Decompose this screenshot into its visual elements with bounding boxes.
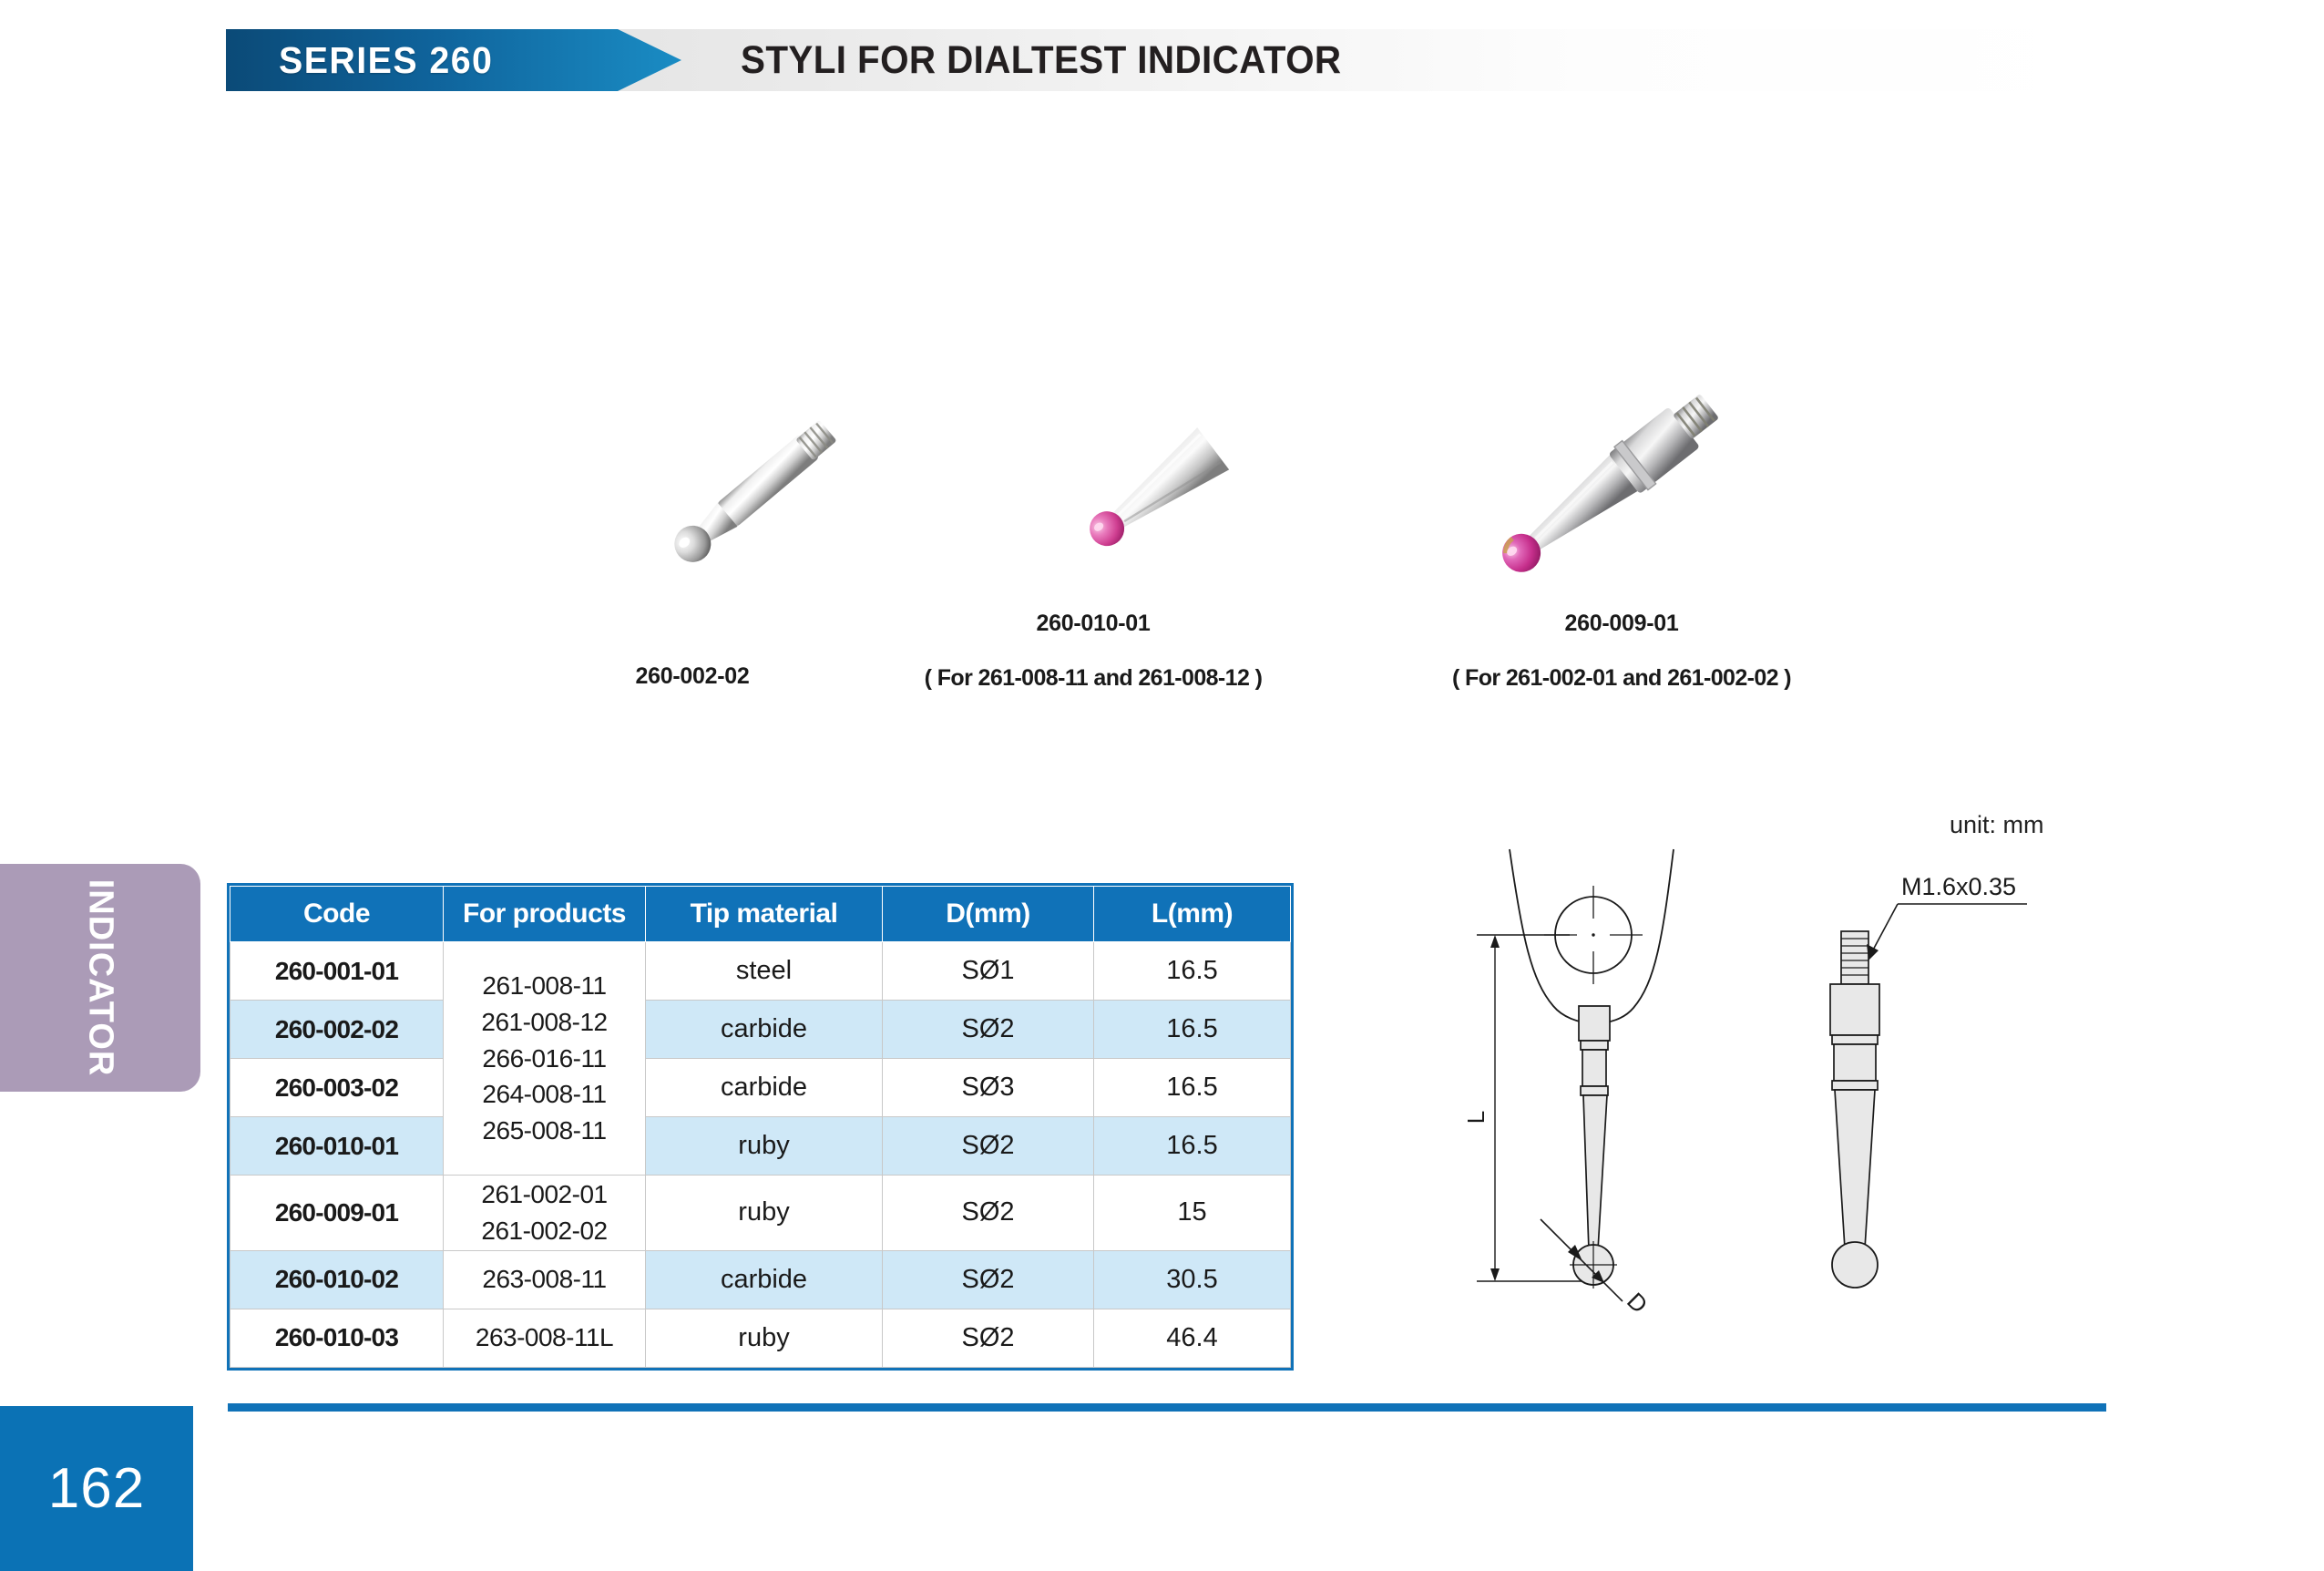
- footer-rule: [228, 1403, 2106, 1412]
- for-product-code: 266-016-11: [445, 1041, 644, 1077]
- product-caption-for-3: ( For 261-002-01 and 261-002-02 ): [1367, 665, 1877, 692]
- cell-tip: carbide: [646, 1001, 883, 1059]
- cell-l: 30.5: [1094, 1250, 1291, 1309]
- technical-drawing: L D: [1444, 802, 2082, 1312]
- cell-for-products: 263-008-11L: [444, 1309, 646, 1367]
- cell-d: SØ2: [883, 1309, 1094, 1367]
- page-number-box: 162: [0, 1406, 193, 1571]
- cell-tip: steel: [646, 942, 883, 1001]
- page-number: 162: [0, 1406, 193, 1571]
- cell-for-products: 261-008-11261-008-12266-016-11264-008-11…: [444, 942, 646, 1176]
- cell-l: 46.4: [1094, 1309, 1291, 1367]
- table-row: 260-003-02carbideSØ316.5: [230, 1059, 1291, 1117]
- dimension-label-D: D: [1622, 1287, 1653, 1312]
- cell-d: SØ2: [883, 1001, 1094, 1059]
- specification-table: Code For products Tip material D(mm) L(m…: [230, 886, 1290, 1368]
- product-image-260-010-01: [1048, 392, 1275, 583]
- cell-l: 16.5: [1094, 1117, 1291, 1176]
- drawing-fork-view: L D: [1462, 849, 1674, 1312]
- cell-tip: carbide: [646, 1059, 883, 1117]
- for-product-code: 261-002-02: [445, 1213, 644, 1249]
- product-caption-code-2: 260-010-01: [920, 611, 1266, 637]
- cell-code: 260-010-01: [230, 1117, 444, 1176]
- dimension-label-L: L: [1462, 1111, 1490, 1124]
- product-image-260-002-02: [638, 369, 893, 597]
- cell-code: 260-002-02: [230, 1001, 444, 1059]
- cell-d: SØ1: [883, 942, 1094, 1001]
- cell-tip: ruby: [646, 1117, 883, 1176]
- column-header-for-products: For products: [444, 887, 646, 942]
- column-header-d: D(mm): [883, 887, 1094, 942]
- cell-d: SØ2: [883, 1250, 1094, 1309]
- product-caption-code-1: 260-002-02: [565, 663, 820, 690]
- table-row: 260-010-03263-008-11LrubySØ246.4: [230, 1309, 1291, 1367]
- cell-l: 15: [1094, 1176, 1291, 1251]
- for-product-code: 263-008-11: [445, 1261, 644, 1298]
- cell-code: 260-003-02: [230, 1059, 444, 1117]
- for-product-code: 265-008-11: [445, 1113, 644, 1149]
- cell-d: SØ3: [883, 1059, 1094, 1117]
- cell-code: 260-009-01: [230, 1176, 444, 1251]
- for-product-code: 261-002-01: [445, 1176, 644, 1213]
- table-row: 260-010-01rubySØ216.5: [230, 1117, 1291, 1176]
- cell-code: 260-001-01: [230, 942, 444, 1001]
- cell-for-products: 263-008-11: [444, 1250, 646, 1309]
- section-tab-indicator[interactable]: INDICATOR: [0, 864, 200, 1092]
- product-image-260-009-01: [1458, 365, 1767, 601]
- product-caption-for-2: ( For 261-008-11 and 261-008-12 ): [847, 665, 1339, 692]
- page-title: STYLI FOR DIALTEST INDICATOR: [741, 29, 1341, 91]
- for-product-code: 261-008-12: [445, 1004, 644, 1041]
- cell-for-products: 261-002-01261-002-02: [444, 1176, 646, 1251]
- table-header-row: Code For products Tip material D(mm) L(m…: [230, 887, 1291, 942]
- drawing-stylus-view: M1.6x0.35: [1830, 873, 2027, 1288]
- column-header-l: L(mm): [1094, 887, 1291, 942]
- cell-l: 16.5: [1094, 1059, 1291, 1117]
- section-tab-label: INDICATOR: [81, 879, 120, 1077]
- table-row: 260-009-01261-002-01261-002-02rubySØ215: [230, 1176, 1291, 1251]
- cell-tip: ruby: [646, 1309, 883, 1367]
- thread-callout-label: M1.6x0.35: [1901, 873, 2016, 900]
- for-product-code: 264-008-11: [445, 1076, 644, 1113]
- cell-tip: ruby: [646, 1176, 883, 1251]
- cell-tip: carbide: [646, 1250, 883, 1309]
- table-row: 260-001-01261-008-11261-008-12266-016-11…: [230, 942, 1291, 1001]
- table-row: 260-002-02carbideSØ216.5: [230, 1001, 1291, 1059]
- cell-d: SØ2: [883, 1176, 1094, 1251]
- cell-l: 16.5: [1094, 1001, 1291, 1059]
- for-product-code: 263-008-11L: [445, 1319, 644, 1356]
- cell-d: SØ2: [883, 1117, 1094, 1176]
- series-label: SERIES 260: [279, 29, 493, 91]
- for-product-code: 261-008-11: [445, 968, 644, 1004]
- cell-l: 16.5: [1094, 942, 1291, 1001]
- cell-code: 260-010-03: [230, 1309, 444, 1367]
- cell-code: 260-010-02: [230, 1250, 444, 1309]
- column-header-tip-material: Tip material: [646, 887, 883, 942]
- product-caption-code-3: 260-009-01: [1449, 611, 1795, 637]
- table-row: 260-010-02263-008-11carbideSØ230.5: [230, 1250, 1291, 1309]
- column-header-code: Code: [230, 887, 444, 942]
